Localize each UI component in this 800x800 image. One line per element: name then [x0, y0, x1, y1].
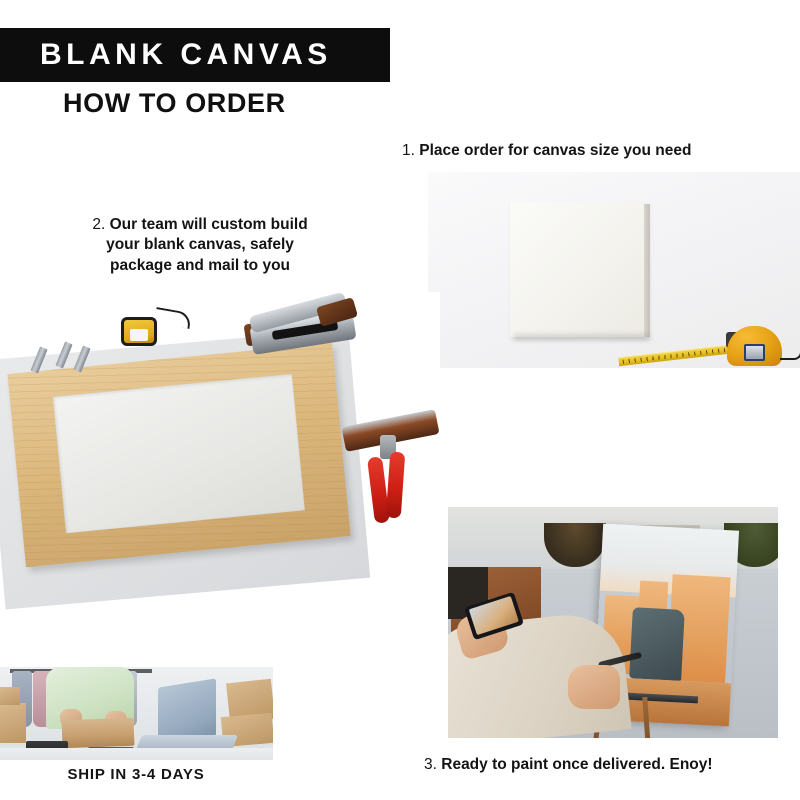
step-1-caption: 1. Place order for canvas size you need — [402, 141, 691, 161]
poster-root: BLANK CANVAS HOW TO ORDER 1. Place order… — [0, 0, 800, 800]
stacked-box-left-lower — [0, 703, 26, 743]
step-2-number: 2. — [92, 216, 105, 233]
tape-measure-window — [744, 344, 765, 361]
stretched-canvas-surface — [53, 374, 305, 533]
page-subtitle: HOW TO ORDER — [63, 88, 286, 119]
small-tape-measure-cord — [154, 307, 192, 329]
wooden-stretcher-frame — [7, 343, 350, 567]
shipping-box — [62, 718, 135, 748]
step-2-caption: 2. Our team will custom build your blank… — [45, 215, 355, 276]
title-banner: BLANK CANVAS — [0, 28, 390, 82]
step-2-line-1: 2. Our team will custom build — [45, 215, 355, 235]
step-3-caption: 3. Ready to paint once delivered. Enoy! — [424, 755, 713, 775]
step-1-number: 1. — [402, 142, 415, 159]
step-2-text-line-3: package and mail to you — [45, 256, 355, 276]
small-tape-measure — [121, 317, 157, 346]
page-title: BLANK CANVAS — [0, 38, 332, 72]
blank-canvas-side-edge — [644, 204, 650, 337]
photo-artist-painting-on-easel — [448, 507, 778, 738]
step-2-text-line-2: your blank canvas, safely — [45, 235, 355, 255]
tape-measure-blade — [618, 344, 735, 366]
blank-canvas-front — [510, 202, 647, 337]
shipping-time-label: SHIP IN 3-4 DAYS — [0, 765, 272, 785]
step-3-number: 3. — [424, 756, 437, 773]
canvas-drop-shadow — [514, 334, 650, 340]
painting-dark-shape — [629, 608, 685, 681]
tape-measure-cord — [780, 350, 800, 360]
desk-surface — [0, 748, 273, 760]
photo-blank-canvas-with-tape-measure — [428, 172, 800, 368]
canvas-plier-handle-right — [386, 452, 406, 519]
photo-wooden-stretcher-frame-with-tools — [0, 292, 440, 620]
step-3-text: Ready to paint once delivered. Enoy! — [441, 756, 712, 773]
stacked-box-left-upper — [0, 687, 20, 705]
step-2-text-line-1: Our team will custom build — [110, 216, 308, 233]
photo-packing-order-at-desk — [0, 667, 273, 760]
artist-hand-painting — [568, 665, 620, 709]
step-1-text: Place order for canvas size you need — [419, 142, 691, 159]
